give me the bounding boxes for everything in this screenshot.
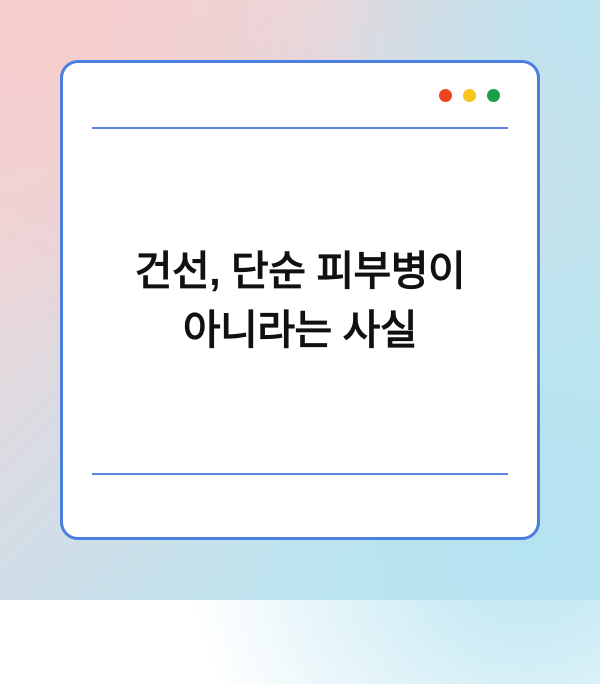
card-footer-spacer bbox=[63, 475, 537, 537]
maximize-dot-icon[interactable] bbox=[487, 89, 500, 102]
page-title: 건선, 단순 피부병이 아니라는 사실 bbox=[135, 242, 465, 361]
close-dot-icon[interactable] bbox=[439, 89, 452, 102]
browser-window-card: 건선, 단순 피부병이 아니라는 사실 bbox=[60, 60, 540, 540]
poster-canvas: 건선, 단순 피부병이 아니라는 사실 bbox=[0, 0, 600, 600]
card-content-area: 건선, 단순 피부병이 아니라는 사실 bbox=[63, 129, 537, 473]
minimize-dot-icon[interactable] bbox=[463, 89, 476, 102]
window-controls bbox=[439, 89, 500, 102]
browser-titlebar bbox=[63, 63, 537, 127]
